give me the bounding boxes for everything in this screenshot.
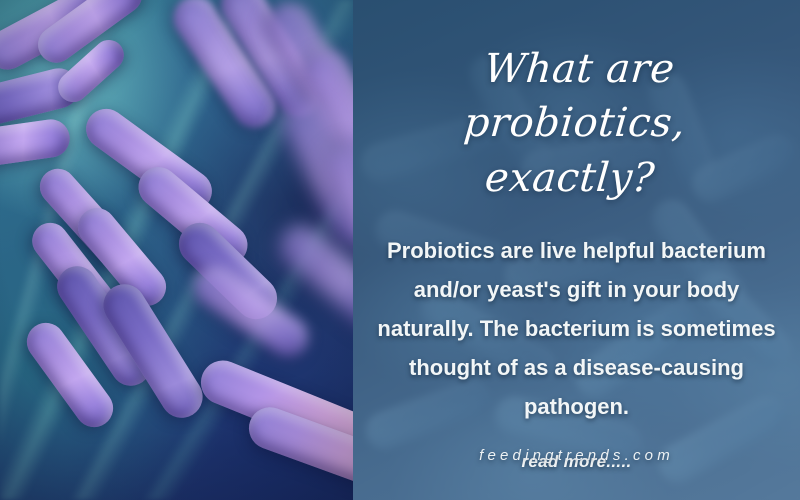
probiotics-infographic-card: What are probiotics, exactly? Probiotics… <box>0 0 800 500</box>
bacteria-photo-panel <box>0 0 353 500</box>
headline: What are probiotics, exactly? <box>353 0 800 205</box>
text-content: What are probiotics, exactly? Probiotics… <box>353 0 800 500</box>
photo-vignette <box>0 0 353 500</box>
body-paragraph: Probiotics are live helpful bacterium an… <box>353 205 800 426</box>
text-panel: What are probiotics, exactly? Probiotics… <box>353 0 800 500</box>
site-brand: feedingtrends.com <box>353 447 800 464</box>
